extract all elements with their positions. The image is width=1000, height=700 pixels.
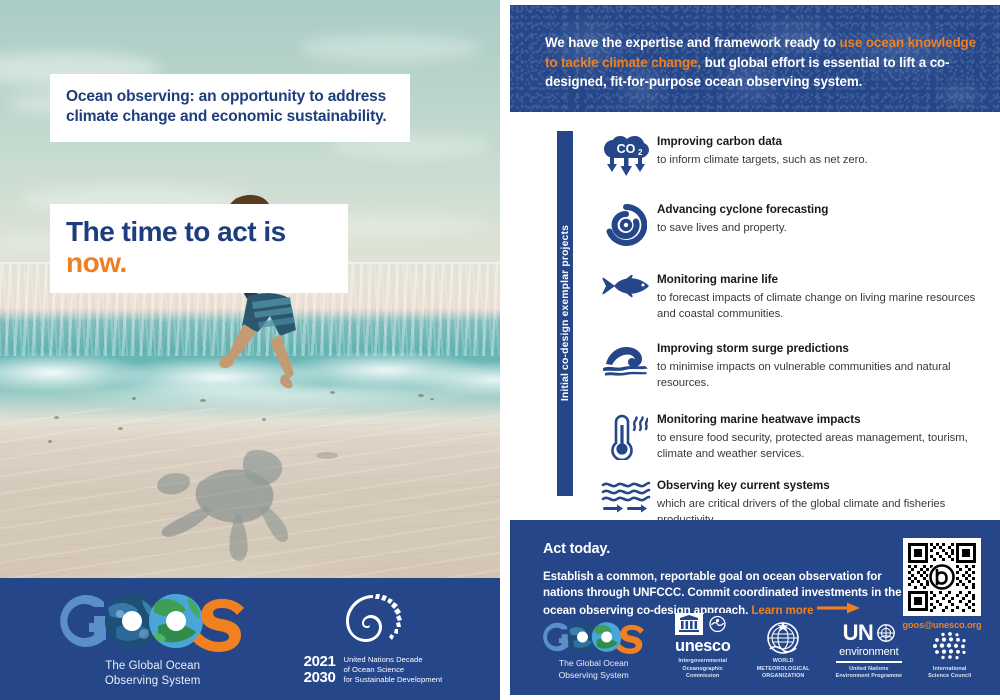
left-hero-panel: Ocean observing: an opportunity to addre… [0,0,500,700]
svg-text:2: 2 [638,148,643,157]
thermometer-icon [604,414,648,460]
decade-description: United Nations Decade of Ocean Science f… [343,655,442,686]
isc-dots-icon [930,631,970,661]
wave-icon [602,343,650,377]
hero-headline: The time to act is now. [50,204,348,293]
left-footer-band: The Global Ocean Observing System [0,578,500,700]
partner-goos-line1: The Global Ocean [559,658,629,669]
partner-un-environment: UN environment United Nations Environmen… [836,622,903,681]
co2-cloud-icon: CO 2 [603,136,649,176]
project-copy: Advancing cyclone forecasting to save li… [657,200,844,236]
pebble [330,391,335,394]
divider [836,661,903,662]
project-icon-slot: CO 2 [595,132,657,176]
un-ocean-decade-logo: 2021 2030 United Nations Decade of Ocean… [304,592,443,686]
decade-year-end: 2030 [304,670,336,686]
project-description: to inform climate targets, such as net z… [657,152,868,168]
hero-subheadline: Ocean observing: an opportunity to addre… [50,74,410,142]
project-title: Monitoring marine heatwave impacts [657,412,984,428]
goos-wordmark [58,590,248,652]
cloud-decoration [300,34,480,62]
project-title: Advancing cyclone forecasting [657,202,828,218]
boy-shadow [140,440,330,570]
partner-goos-tagline: The Global Ocean Observing System [559,658,629,681]
un-environment-subword: environment [839,647,898,658]
decade-line1: United Nations Decade [343,655,442,665]
un-env-caption-line2: Environment Programme [836,673,903,681]
ocean-decade-wave-icon [342,592,404,648]
project-copy: Monitoring marine life to forecast impac… [657,270,1000,322]
un-env-caption-line1: United Nations [836,666,903,674]
unesco-caption-line1: Intergovernmental [678,658,727,666]
poster-root: Ocean observing: an opportunity to addre… [0,0,1000,700]
partner-international-science-council: International Science Council [928,631,971,681]
un-emblem-icon [877,624,895,642]
goos-tagline-line2: Observing System [105,674,201,689]
goos-logo-large: The Global Ocean Observing System [58,590,248,689]
project-title: Improving storm surge predictions [657,341,984,357]
un-env-lockup: UN [843,622,896,644]
pebble [132,397,136,400]
partner-logo-strip: The Global Ocean Observing System [510,613,1000,681]
wmo-caption-line2: METEOROLOGICAL [757,666,810,674]
decade-year-start: 2021 [304,654,336,670]
goos-tagline-line1: The Global Ocean [105,659,201,674]
goos-tagline: The Global Ocean Observing System [105,659,201,689]
project-copy: Monitoring marine heatwave impacts to en… [657,410,1000,462]
partner-isc-caption: International Science Council [928,666,971,681]
pebble [262,418,266,421]
header-statement-part1: We have the expertise and framework read… [545,35,839,50]
decade-line3: for Sustainable Development [343,675,442,685]
project-icon-slot [595,410,657,460]
decade-caption: 2021 2030 United Nations Decade of Ocean… [304,654,443,686]
hero-headline-prefix: The time to act is [66,216,286,247]
partner-unesco-caption: Intergovernmental Oceanographic Commissi… [678,658,727,681]
unesco-wordmark: unesco [675,638,730,655]
isc-caption-line2: Science Council [928,673,971,681]
project-icon-slot [595,270,657,298]
project-title: Monitoring marine life [657,272,984,288]
project-copy: Improving carbon data to inform climate … [657,132,884,168]
svg-text:CO: CO [617,142,636,156]
header-statement: We have the expertise and framework read… [545,33,980,92]
project-description: to ensure food security, protected areas… [657,430,984,462]
project-description: to save lives and property. [657,220,828,236]
section-side-label: Initial co-design exemplar projects [557,131,573,496]
section-side-label-text: Initial co-design exemplar projects [560,225,571,401]
list-item: Monitoring marine life to forecast impac… [595,270,1000,322]
qr-code-matrix [906,541,978,613]
goos-logo-small [539,620,649,654]
project-description: to forecast impacts of climate change on… [657,290,984,322]
project-title: Improving carbon data [657,134,868,150]
partner-un-env-caption: United Nations Environment Programme [836,666,903,681]
project-icon-slot [595,476,657,514]
right-content-panel: We have the expertise and framework read… [500,0,1000,700]
list-item: Improving storm surge predictions to min… [595,339,1000,391]
unesco-caption-line3: Commission [678,673,727,681]
wmo-caption-line3: ORGANIZATION [757,673,810,681]
pebble [118,427,123,430]
project-copy: Improving storm surge predictions to min… [657,339,1000,391]
unesco-temple-icon [675,613,731,635]
pebble [430,398,434,400]
act-today-body: Establish a common, reportable goal on o… [543,569,903,619]
list-item: Advancing cyclone forecasting to save li… [595,200,1000,246]
project-icon-slot [595,200,657,246]
project-title: Observing key current systems [657,478,984,494]
partner-wmo-caption: WORLD METEOROLOGICAL ORGANIZATION [757,658,810,681]
pebble [418,394,424,397]
partner-goos: The Global Ocean Observing System [539,620,649,681]
ocean-current-icon [601,480,651,514]
fish-icon [602,274,650,298]
partner-goos-line2: Observing System [559,670,629,681]
decade-line2: of Ocean Science [343,665,442,675]
exemplar-project-list: CO 2 Improving carbon data to inform cli… [595,130,1000,528]
wmo-caption-line1: WORLD [757,658,810,666]
act-today-footer: Act today. Establish a common, reportabl… [510,520,1000,695]
list-item: Monitoring marine heatwave impacts to en… [595,410,1000,462]
un-wordmark: UN [843,622,874,644]
pebble [200,399,206,402]
project-description: to minimise impacts on vulnerable commun… [657,359,984,391]
act-today-title: Act today. [543,541,610,557]
list-item: CO 2 Improving carbon data to inform cli… [595,132,1000,176]
partner-wmo: WORLD METEOROLOGICAL ORGANIZATION [757,621,810,681]
qr-code-icon[interactable] [903,538,981,616]
hero-subheadline-text: Ocean observing: an opportunity to addre… [66,88,387,125]
wmo-globe-icon [766,621,800,655]
cyclone-icon [605,204,647,246]
isc-caption-line1: International [928,666,971,674]
project-icon-slot [595,339,657,377]
pebble [54,416,59,419]
unesco-caption-line2: Oceanographic [678,666,727,674]
partner-unesco-ioc: unesco Intergovernmental Oceanographic C… [675,613,731,681]
pebble [48,440,52,443]
hero-headline-accent: now. [66,247,127,278]
header-banner: We have the expertise and framework read… [510,5,1000,112]
decade-years: 2021 2030 [304,654,336,686]
